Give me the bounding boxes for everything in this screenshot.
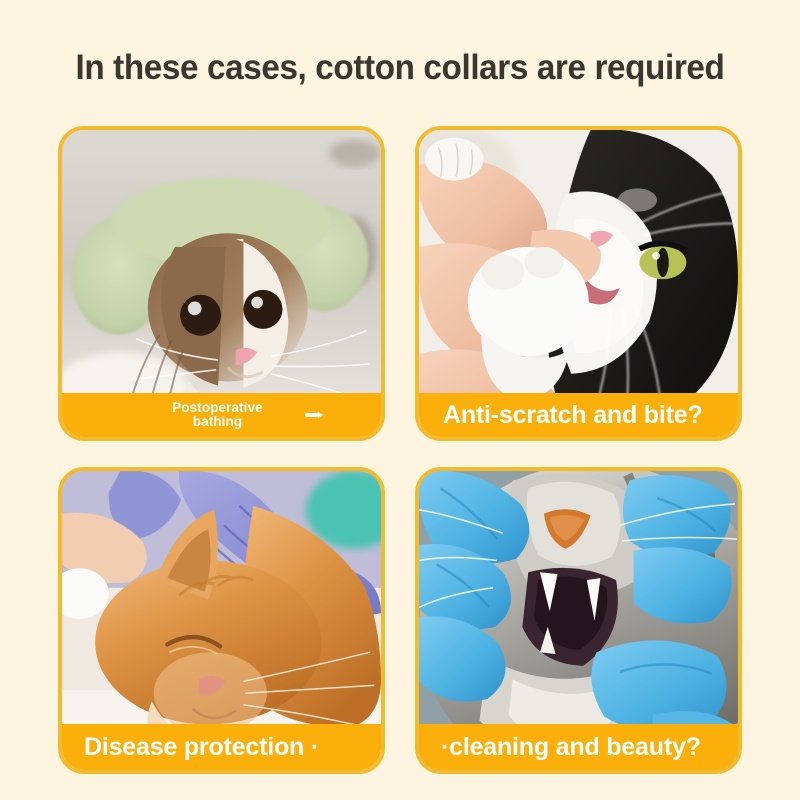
- card-cleaning-and-beauty[interactable]: ·cleaning and beauty?: [415, 467, 742, 774]
- caption-band-disease-protection: Disease protection ·: [62, 724, 381, 770]
- caption-band-anti-scratch-and-bite: Anti-scratch and bite?: [419, 393, 738, 437]
- card-disease-protection[interactable]: Disease protection ·: [58, 467, 385, 774]
- caption-band-postoperative-bathing: Postoperative bathing: [62, 393, 381, 437]
- card-postoperative-bathing[interactable]: Postoperative bathing: [58, 126, 385, 441]
- caption-text: ·cleaning and beauty?: [419, 734, 701, 760]
- caption-text: Postoperative bathing: [172, 401, 263, 429]
- card-anti-scratch-and-bite[interactable]: Anti-scratch and bite?: [415, 126, 742, 441]
- promo-infographic: In these cases, cotton collars are requi…: [0, 0, 800, 800]
- page-title: In these cases, cotton collars are requi…: [20, 48, 780, 88]
- photo-cat-with-towel-in-bath: [62, 130, 381, 437]
- arrow-dash-icon: [305, 413, 321, 417]
- caption-text: Disease protection ·: [62, 734, 319, 760]
- caption-band-cleaning-and-beauty: ·cleaning and beauty?: [419, 724, 738, 770]
- use-case-card-grid: Postoperative bathing: [58, 126, 742, 774]
- photo-cat-biting-finger: [419, 130, 738, 437]
- caption-text: Anti-scratch and bite?: [419, 402, 703, 428]
